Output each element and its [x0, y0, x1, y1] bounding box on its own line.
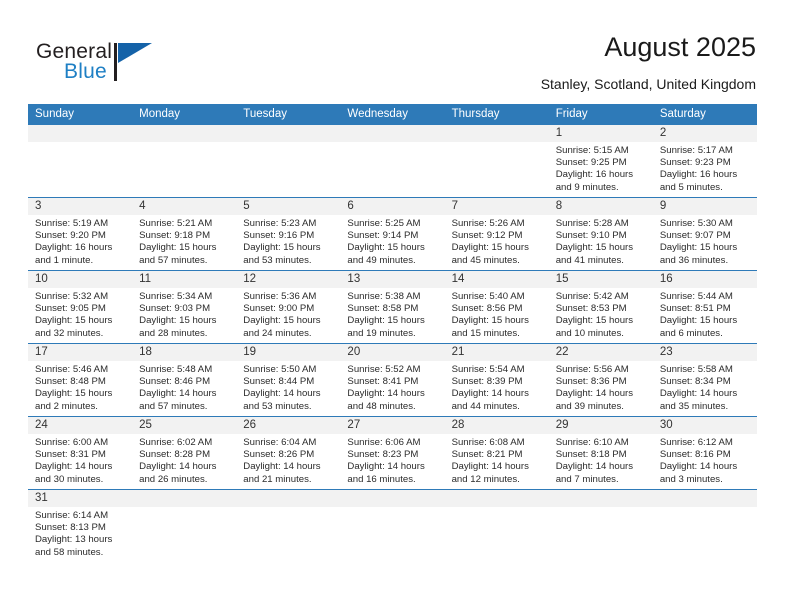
sunrise-text: Sunrise: 5:34 AM — [139, 291, 230, 303]
day-number: 9 — [660, 198, 751, 215]
sunrise-text: Sunrise: 5:56 AM — [556, 364, 647, 376]
calendar-day-cell[interactable]: 17Sunrise: 5:46 AMSunset: 8:48 PMDayligh… — [28, 344, 132, 416]
daylight-text-line1: Daylight: 14 hours — [139, 461, 230, 473]
daylight-text-line2: and 32 minutes. — [35, 328, 126, 340]
day-details: Sunrise: 5:52 AMSunset: 8:41 PMDaylight:… — [347, 364, 438, 413]
calendar-day-cell[interactable]: 6Sunrise: 5:25 AMSunset: 9:14 PMDaylight… — [340, 198, 444, 270]
daylight-text-line1: Daylight: 15 hours — [243, 242, 334, 254]
daylight-text-line2: and 9 minutes. — [556, 182, 647, 194]
daylight-text-line2: and 28 minutes. — [139, 328, 230, 340]
daylight-text-line2: and 45 minutes. — [452, 255, 543, 267]
daylight-text-line2: and 5 minutes. — [660, 182, 751, 194]
sunset-text: Sunset: 8:13 PM — [35, 522, 126, 534]
calendar-day-cell[interactable]: 1Sunrise: 5:15 AMSunset: 9:25 PMDaylight… — [549, 125, 653, 197]
daylight-text-line2: and 58 minutes. — [35, 547, 126, 559]
day-number: 29 — [556, 417, 647, 434]
day-number: 6 — [347, 198, 438, 215]
day-details: Sunrise: 5:40 AMSunset: 8:56 PMDaylight:… — [452, 291, 543, 340]
calendar-day-cell[interactable]: 30Sunrise: 6:12 AMSunset: 8:16 PMDayligh… — [653, 417, 757, 489]
daylight-text-line2: and 21 minutes. — [243, 474, 334, 486]
day-details: Sunrise: 5:25 AMSunset: 9:14 PMDaylight:… — [347, 218, 438, 267]
daylight-text-line1: Daylight: 15 hours — [347, 315, 438, 327]
daylight-text-line2: and 24 minutes. — [243, 328, 334, 340]
sunrise-text: Sunrise: 5:48 AM — [139, 364, 230, 376]
sunset-text: Sunset: 9:00 PM — [243, 303, 334, 315]
sunset-text: Sunset: 8:44 PM — [243, 376, 334, 388]
calendar-day-cell[interactable]: 11Sunrise: 5:34 AMSunset: 9:03 PMDayligh… — [132, 271, 236, 343]
sunset-text: Sunset: 9:16 PM — [243, 230, 334, 242]
calendar-day-cell-empty — [28, 125, 132, 197]
sunset-text: Sunset: 9:07 PM — [660, 230, 751, 242]
sunrise-text: Sunrise: 5:17 AM — [660, 145, 751, 157]
daylight-text-line2: and 7 minutes. — [556, 474, 647, 486]
sunset-text: Sunset: 8:53 PM — [556, 303, 647, 315]
day-details: Sunrise: 5:26 AMSunset: 9:12 PMDaylight:… — [452, 218, 543, 267]
day-number: 12 — [243, 271, 334, 288]
day-number: 14 — [452, 271, 543, 288]
sunrise-text: Sunrise: 5:15 AM — [556, 145, 647, 157]
daylight-text-line2: and 44 minutes. — [452, 401, 543, 413]
sunset-text: Sunset: 8:18 PM — [556, 449, 647, 461]
sunset-text: Sunset: 8:58 PM — [347, 303, 438, 315]
sunrise-text: Sunrise: 6:08 AM — [452, 437, 543, 449]
daylight-text-line2: and 12 minutes. — [452, 474, 543, 486]
sunset-text: Sunset: 8:56 PM — [452, 303, 543, 315]
day-number: 21 — [452, 344, 543, 361]
daylight-text-line1: Daylight: 14 hours — [452, 461, 543, 473]
calendar-page: General Blue August 2025 Stanley, Scotla… — [0, 0, 792, 612]
sunrise-text: Sunrise: 6:04 AM — [243, 437, 334, 449]
sunrise-text: Sunrise: 6:02 AM — [139, 437, 230, 449]
day-details: Sunrise: 6:00 AMSunset: 8:31 PMDaylight:… — [35, 437, 126, 486]
day-number: 1 — [556, 125, 647, 142]
day-number: 16 — [660, 271, 751, 288]
sunset-text: Sunset: 8:16 PM — [660, 449, 751, 461]
sunset-text: Sunset: 9:05 PM — [35, 303, 126, 315]
sunrise-text: Sunrise: 6:00 AM — [35, 437, 126, 449]
sunrise-text: Sunrise: 5:36 AM — [243, 291, 334, 303]
sunrise-text: Sunrise: 5:54 AM — [452, 364, 543, 376]
calendar-day-cell-empty — [132, 125, 236, 197]
day-number: 13 — [347, 271, 438, 288]
day-details: Sunrise: 5:32 AMSunset: 9:05 PMDaylight:… — [35, 291, 126, 340]
calendar-weeks: 1Sunrise: 5:15 AMSunset: 9:25 PMDaylight… — [28, 125, 757, 564]
day-details: Sunrise: 6:04 AMSunset: 8:26 PMDaylight:… — [243, 437, 334, 486]
day-details: Sunrise: 5:54 AMSunset: 8:39 PMDaylight:… — [452, 364, 543, 413]
sunset-text: Sunset: 8:34 PM — [660, 376, 751, 388]
sunset-text: Sunset: 9:18 PM — [139, 230, 230, 242]
day-details: Sunrise: 5:56 AMSunset: 8:36 PMDaylight:… — [556, 364, 647, 413]
calendar-day-cell[interactable]: 18Sunrise: 5:48 AMSunset: 8:46 PMDayligh… — [132, 344, 236, 416]
daylight-text-line2: and 3 minutes. — [660, 474, 751, 486]
calendar-day-cell-empty — [445, 125, 549, 197]
day-number: 30 — [660, 417, 751, 434]
daylight-text-line2: and 53 minutes. — [243, 255, 334, 267]
day-number: 28 — [452, 417, 543, 434]
daylight-text-line1: Daylight: 15 hours — [452, 242, 543, 254]
weekday-thursday: Thursday — [445, 104, 549, 125]
sunset-text: Sunset: 9:12 PM — [452, 230, 543, 242]
sunrise-text: Sunrise: 5:46 AM — [35, 364, 126, 376]
calendar-day-cell[interactable]: 15Sunrise: 5:42 AMSunset: 8:53 PMDayligh… — [549, 271, 653, 343]
sunrise-text: Sunrise: 5:30 AM — [660, 218, 751, 230]
sunset-text: Sunset: 8:21 PM — [452, 449, 543, 461]
sunset-text: Sunset: 8:28 PM — [139, 449, 230, 461]
day-number: 7 — [452, 198, 543, 215]
weekday-wednesday: Wednesday — [340, 104, 444, 125]
sunset-text: Sunset: 8:31 PM — [35, 449, 126, 461]
calendar-day-cell[interactable]: 25Sunrise: 6:02 AMSunset: 8:28 PMDayligh… — [132, 417, 236, 489]
day-number: 4 — [139, 198, 230, 215]
sunset-text: Sunset: 8:23 PM — [347, 449, 438, 461]
day-details: Sunrise: 5:48 AMSunset: 8:46 PMDaylight:… — [139, 364, 230, 413]
sunrise-text: Sunrise: 5:23 AM — [243, 218, 334, 230]
weekday-sunday: Sunday — [28, 104, 132, 125]
day-details: Sunrise: 5:36 AMSunset: 9:00 PMDaylight:… — [243, 291, 334, 340]
calendar-day-cell[interactable]: 4Sunrise: 5:21 AMSunset: 9:18 PMDaylight… — [132, 198, 236, 270]
calendar-day-cell[interactable]: 10Sunrise: 5:32 AMSunset: 9:05 PMDayligh… — [28, 271, 132, 343]
day-details: Sunrise: 5:28 AMSunset: 9:10 PMDaylight:… — [556, 218, 647, 267]
daylight-text-line2: and 1 minute. — [35, 255, 126, 267]
day-number: 8 — [556, 198, 647, 215]
daylight-text-line1: Daylight: 15 hours — [660, 242, 751, 254]
daylight-text-line2: and 53 minutes. — [243, 401, 334, 413]
page-header: General Blue August 2025 Stanley, Scotla… — [0, 0, 792, 100]
logo-flag-icon — [118, 43, 152, 63]
sunrise-text: Sunrise: 6:10 AM — [556, 437, 647, 449]
sunrise-text: Sunrise: 5:52 AM — [347, 364, 438, 376]
day-number: 22 — [556, 344, 647, 361]
day-details: Sunrise: 5:17 AMSunset: 9:23 PMDaylight:… — [660, 145, 751, 194]
sunset-text: Sunset: 9:20 PM — [35, 230, 126, 242]
day-number: 2 — [660, 125, 751, 142]
day-details: Sunrise: 5:58 AMSunset: 8:34 PMDaylight:… — [660, 364, 751, 413]
daylight-text-line1: Daylight: 14 hours — [139, 388, 230, 400]
day-number: 23 — [660, 344, 751, 361]
day-number: 10 — [35, 271, 126, 288]
day-details: Sunrise: 6:12 AMSunset: 8:16 PMDaylight:… — [660, 437, 751, 486]
day-number: 11 — [139, 271, 230, 288]
calendar-day-cell[interactable]: 24Sunrise: 6:00 AMSunset: 8:31 PMDayligh… — [28, 417, 132, 489]
day-details: Sunrise: 5:19 AMSunset: 9:20 PMDaylight:… — [35, 218, 126, 267]
calendar-day-cell-empty — [132, 490, 236, 564]
sunset-text: Sunset: 8:39 PM — [452, 376, 543, 388]
day-number: 27 — [347, 417, 438, 434]
sunrise-text: Sunrise: 5:28 AM — [556, 218, 647, 230]
daylight-text-line2: and 10 minutes. — [556, 328, 647, 340]
daylight-text-line1: Daylight: 14 hours — [660, 388, 751, 400]
weekday-monday: Monday — [132, 104, 236, 125]
daylight-text-line2: and 19 minutes. — [347, 328, 438, 340]
sunset-text: Sunset: 9:23 PM — [660, 157, 751, 169]
day-number: 18 — [139, 344, 230, 361]
logo-mast-icon — [114, 43, 117, 81]
sunrise-text: Sunrise: 5:58 AM — [660, 364, 751, 376]
daylight-text-line1: Daylight: 15 hours — [556, 242, 647, 254]
daylight-text-line1: Daylight: 14 hours — [243, 388, 334, 400]
sunrise-text: Sunrise: 6:14 AM — [35, 510, 126, 522]
sunset-text: Sunset: 8:41 PM — [347, 376, 438, 388]
day-details: Sunrise: 5:30 AMSunset: 9:07 PMDaylight:… — [660, 218, 751, 267]
daylight-text-line1: Daylight: 14 hours — [452, 388, 543, 400]
calendar-week-row: 10Sunrise: 5:32 AMSunset: 9:05 PMDayligh… — [28, 270, 757, 343]
calendar-day-cell[interactable]: 29Sunrise: 6:10 AMSunset: 8:18 PMDayligh… — [549, 417, 653, 489]
sunrise-text: Sunrise: 5:21 AM — [139, 218, 230, 230]
daylight-text-line2: and 57 minutes. — [139, 255, 230, 267]
daylight-text-line2: and 2 minutes. — [35, 401, 126, 413]
calendar-day-cell[interactable]: 22Sunrise: 5:56 AMSunset: 8:36 PMDayligh… — [549, 344, 653, 416]
daylight-text-line1: Daylight: 14 hours — [347, 388, 438, 400]
day-number: 25 — [139, 417, 230, 434]
sunrise-text: Sunrise: 5:25 AM — [347, 218, 438, 230]
day-details: Sunrise: 6:10 AMSunset: 8:18 PMDaylight:… — [556, 437, 647, 486]
daylight-text-line2: and 48 minutes. — [347, 401, 438, 413]
daylight-text-line2: and 15 minutes. — [452, 328, 543, 340]
day-number: 17 — [35, 344, 126, 361]
sunrise-text: Sunrise: 5:38 AM — [347, 291, 438, 303]
daylight-text-line2: and 39 minutes. — [556, 401, 647, 413]
daylight-text-line1: Daylight: 14 hours — [243, 461, 334, 473]
calendar-day-cell[interactable]: 16Sunrise: 5:44 AMSunset: 8:51 PMDayligh… — [653, 271, 757, 343]
calendar-day-cell-empty — [236, 490, 340, 564]
sunrise-text: Sunrise: 5:40 AM — [452, 291, 543, 303]
daylight-text-line2: and 49 minutes. — [347, 255, 438, 267]
sunset-text: Sunset: 9:03 PM — [139, 303, 230, 315]
daylight-text-line2: and 41 minutes. — [556, 255, 647, 267]
general-blue-logo[interactable]: General Blue — [36, 40, 166, 88]
daylight-text-line1: Daylight: 14 hours — [556, 388, 647, 400]
daylight-text-line1: Daylight: 15 hours — [556, 315, 647, 327]
sunset-text: Sunset: 9:14 PM — [347, 230, 438, 242]
calendar-day-cell-empty — [653, 490, 757, 564]
calendar-grid: Sunday Monday Tuesday Wednesday Thursday… — [28, 104, 757, 564]
calendar-week-row: 24Sunrise: 6:00 AMSunset: 8:31 PMDayligh… — [28, 416, 757, 489]
day-number: 5 — [243, 198, 334, 215]
page-subtitle-location: Stanley, Scotland, United Kingdom — [541, 76, 756, 92]
sunrise-text: Sunrise: 6:06 AM — [347, 437, 438, 449]
calendar-day-cell-empty — [340, 125, 444, 197]
calendar-day-cell-empty — [445, 490, 549, 564]
day-details: Sunrise: 6:08 AMSunset: 8:21 PMDaylight:… — [452, 437, 543, 486]
sunrise-text: Sunrise: 6:12 AM — [660, 437, 751, 449]
weekday-friday: Friday — [549, 104, 653, 125]
calendar-day-cell[interactable]: 7Sunrise: 5:26 AMSunset: 9:12 PMDaylight… — [445, 198, 549, 270]
daylight-text-line2: and 36 minutes. — [660, 255, 751, 267]
calendar-day-cell[interactable]: 3Sunrise: 5:19 AMSunset: 9:20 PMDaylight… — [28, 198, 132, 270]
sunrise-text: Sunrise: 5:26 AM — [452, 218, 543, 230]
daylight-text-line2: and 57 minutes. — [139, 401, 230, 413]
sunrise-text: Sunrise: 5:44 AM — [660, 291, 751, 303]
daylight-text-line1: Daylight: 15 hours — [139, 315, 230, 327]
calendar-day-cell[interactable]: 26Sunrise: 6:04 AMSunset: 8:26 PMDayligh… — [236, 417, 340, 489]
page-title: August 2025 — [604, 32, 756, 63]
sunset-text: Sunset: 8:26 PM — [243, 449, 334, 461]
daylight-text-line1: Daylight: 15 hours — [660, 315, 751, 327]
day-details: Sunrise: 5:38 AMSunset: 8:58 PMDaylight:… — [347, 291, 438, 340]
daylight-text-line1: Daylight: 13 hours — [35, 534, 126, 546]
logo-text-blue: Blue — [64, 60, 107, 84]
daylight-text-line1: Daylight: 14 hours — [347, 461, 438, 473]
calendar-day-cell[interactable]: 9Sunrise: 5:30 AMSunset: 9:07 PMDaylight… — [653, 198, 757, 270]
sunrise-text: Sunrise: 5:19 AM — [35, 218, 126, 230]
calendar-week-row: 17Sunrise: 5:46 AMSunset: 8:48 PMDayligh… — [28, 343, 757, 416]
day-number: 19 — [243, 344, 334, 361]
day-details: Sunrise: 5:23 AMSunset: 9:16 PMDaylight:… — [243, 218, 334, 267]
daylight-text-line1: Daylight: 15 hours — [35, 315, 126, 327]
day-details: Sunrise: 5:42 AMSunset: 8:53 PMDaylight:… — [556, 291, 647, 340]
weekday-header-row: Sunday Monday Tuesday Wednesday Thursday… — [28, 104, 757, 125]
calendar-week-row: 3Sunrise: 5:19 AMSunset: 9:20 PMDaylight… — [28, 197, 757, 270]
day-number: 15 — [556, 271, 647, 288]
sunrise-text: Sunrise: 5:32 AM — [35, 291, 126, 303]
daylight-text-line1: Daylight: 15 hours — [452, 315, 543, 327]
daylight-text-line2: and 16 minutes. — [347, 474, 438, 486]
calendar-day-cell[interactable]: 8Sunrise: 5:28 AMSunset: 9:10 PMDaylight… — [549, 198, 653, 270]
calendar-day-cell-empty — [236, 125, 340, 197]
calendar-day-cell-empty — [340, 490, 444, 564]
calendar-day-cell[interactable]: 5Sunrise: 5:23 AMSunset: 9:16 PMDaylight… — [236, 198, 340, 270]
calendar-day-cell[interactable]: 31Sunrise: 6:14 AMSunset: 8:13 PMDayligh… — [28, 490, 132, 564]
weekday-saturday: Saturday — [653, 104, 757, 125]
daylight-text-line1: Daylight: 16 hours — [556, 169, 647, 181]
calendar-day-cell[interactable]: 23Sunrise: 5:58 AMSunset: 8:34 PMDayligh… — [653, 344, 757, 416]
sunset-text: Sunset: 8:48 PM — [35, 376, 126, 388]
sunset-text: Sunset: 8:51 PM — [660, 303, 751, 315]
daylight-text-line1: Daylight: 15 hours — [139, 242, 230, 254]
calendar-day-cell[interactable]: 2Sunrise: 5:17 AMSunset: 9:23 PMDaylight… — [653, 125, 757, 197]
day-details: Sunrise: 5:50 AMSunset: 8:44 PMDaylight:… — [243, 364, 334, 413]
calendar-day-cell[interactable]: 27Sunrise: 6:06 AMSunset: 8:23 PMDayligh… — [340, 417, 444, 489]
calendar-day-cell[interactable]: 12Sunrise: 5:36 AMSunset: 9:00 PMDayligh… — [236, 271, 340, 343]
daylight-text-line2: and 26 minutes. — [139, 474, 230, 486]
daylight-text-line1: Daylight: 14 hours — [35, 461, 126, 473]
day-details: Sunrise: 5:46 AMSunset: 8:48 PMDaylight:… — [35, 364, 126, 413]
calendar-day-cell-empty — [549, 490, 653, 564]
daylight-text-line1: Daylight: 15 hours — [243, 315, 334, 327]
day-details: Sunrise: 5:21 AMSunset: 9:18 PMDaylight:… — [139, 218, 230, 267]
calendar-day-cell[interactable]: 28Sunrise: 6:08 AMSunset: 8:21 PMDayligh… — [445, 417, 549, 489]
calendar-day-cell[interactable]: 13Sunrise: 5:38 AMSunset: 8:58 PMDayligh… — [340, 271, 444, 343]
calendar-day-cell[interactable]: 20Sunrise: 5:52 AMSunset: 8:41 PMDayligh… — [340, 344, 444, 416]
calendar-day-cell[interactable]: 21Sunrise: 5:54 AMSunset: 8:39 PMDayligh… — [445, 344, 549, 416]
daylight-text-line1: Daylight: 15 hours — [35, 388, 126, 400]
calendar-week-row: 1Sunrise: 5:15 AMSunset: 9:25 PMDaylight… — [28, 125, 757, 197]
day-number: 31 — [35, 490, 126, 507]
daylight-text-line2: and 30 minutes. — [35, 474, 126, 486]
daylight-text-line1: Daylight: 14 hours — [660, 461, 751, 473]
day-details: Sunrise: 6:06 AMSunset: 8:23 PMDaylight:… — [347, 437, 438, 486]
day-details: Sunrise: 6:14 AMSunset: 8:13 PMDaylight:… — [35, 510, 126, 559]
day-details: Sunrise: 5:44 AMSunset: 8:51 PMDaylight:… — [660, 291, 751, 340]
day-number: 3 — [35, 198, 126, 215]
day-details: Sunrise: 5:34 AMSunset: 9:03 PMDaylight:… — [139, 291, 230, 340]
sunset-text: Sunset: 8:46 PM — [139, 376, 230, 388]
day-number: 24 — [35, 417, 126, 434]
sunset-text: Sunset: 9:25 PM — [556, 157, 647, 169]
sunrise-text: Sunrise: 5:42 AM — [556, 291, 647, 303]
sunset-text: Sunset: 8:36 PM — [556, 376, 647, 388]
daylight-text-line1: Daylight: 15 hours — [347, 242, 438, 254]
day-number: 26 — [243, 417, 334, 434]
weekday-tuesday: Tuesday — [236, 104, 340, 125]
calendar-week-row: 31Sunrise: 6:14 AMSunset: 8:13 PMDayligh… — [28, 489, 757, 564]
day-details: Sunrise: 6:02 AMSunset: 8:28 PMDaylight:… — [139, 437, 230, 486]
sunset-text: Sunset: 9:10 PM — [556, 230, 647, 242]
daylight-text-line1: Daylight: 16 hours — [660, 169, 751, 181]
daylight-text-line1: Daylight: 16 hours — [35, 242, 126, 254]
day-number: 20 — [347, 344, 438, 361]
calendar-day-cell[interactable]: 14Sunrise: 5:40 AMSunset: 8:56 PMDayligh… — [445, 271, 549, 343]
daylight-text-line1: Daylight: 14 hours — [556, 461, 647, 473]
calendar-day-cell[interactable]: 19Sunrise: 5:50 AMSunset: 8:44 PMDayligh… — [236, 344, 340, 416]
daylight-text-line2: and 6 minutes. — [660, 328, 751, 340]
daylight-text-line2: and 35 minutes. — [660, 401, 751, 413]
day-details: Sunrise: 5:15 AMSunset: 9:25 PMDaylight:… — [556, 145, 647, 194]
sunrise-text: Sunrise: 5:50 AM — [243, 364, 334, 376]
